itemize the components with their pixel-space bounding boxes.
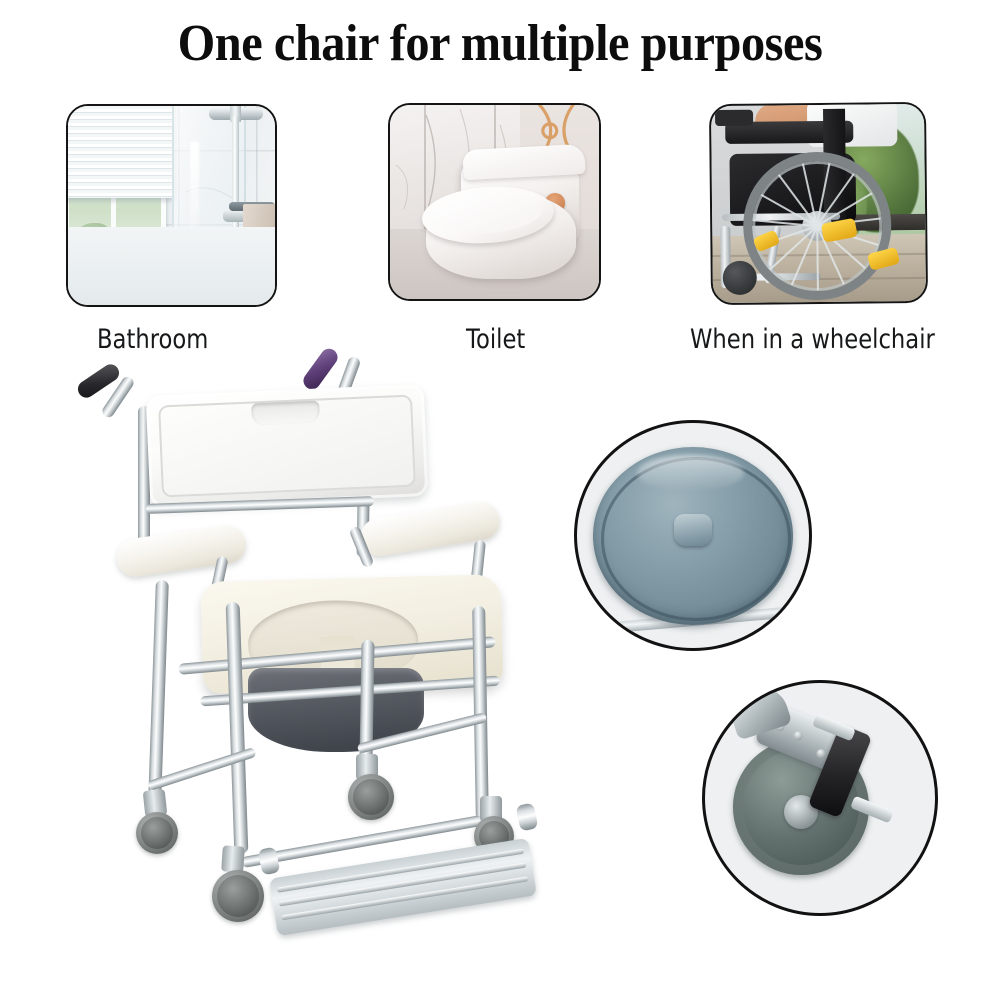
footrest-hinge-right: [515, 802, 538, 831]
toilet-scene: [390, 105, 599, 299]
caster-fork-front-left: [221, 845, 245, 872]
push-handle-grip-right: [300, 345, 341, 392]
product-commode-chair: [60, 350, 620, 980]
lid-highlight: [637, 455, 744, 491]
wheelchair-scene: [711, 104, 926, 303]
wheelchair-front-castor: [723, 261, 757, 295]
use-case-caption-wheelchair: When in a wheelchair: [690, 324, 935, 355]
product-image-canvas: One chair for multiple purposes: [0, 0, 1000, 1000]
leg-rear-left: [148, 580, 169, 802]
window-blind: [66, 104, 174, 198]
bathroom-scene: [68, 106, 275, 305]
caster-rear-right: [348, 774, 394, 820]
use-case-thumbnail-toilet[interactable]: [388, 103, 601, 301]
page-title: One chair for multiple purposes: [35, 14, 965, 73]
use-case-thumbnail-bathroom[interactable]: [66, 104, 277, 307]
caster-front-left: [212, 870, 264, 922]
caster-rear-left: [136, 812, 178, 854]
detail-inset-bucket-lid[interactable]: [574, 420, 812, 651]
wheelchair-wheel: [742, 151, 892, 301]
armrest-left-pad: [114, 523, 248, 579]
backrest-handle-cutout: [251, 401, 320, 426]
bathroom-floor: [68, 227, 275, 305]
toilet-tank-lid: [462, 144, 585, 180]
bucket-lid-knob: [674, 514, 712, 546]
detail-inset-brake-caster[interactable]: [702, 680, 938, 916]
backrest-panel: [146, 384, 429, 508]
armrest-mount: [715, 110, 753, 126]
use-case-thumbnail-wheelchair[interactable]: [709, 102, 928, 305]
